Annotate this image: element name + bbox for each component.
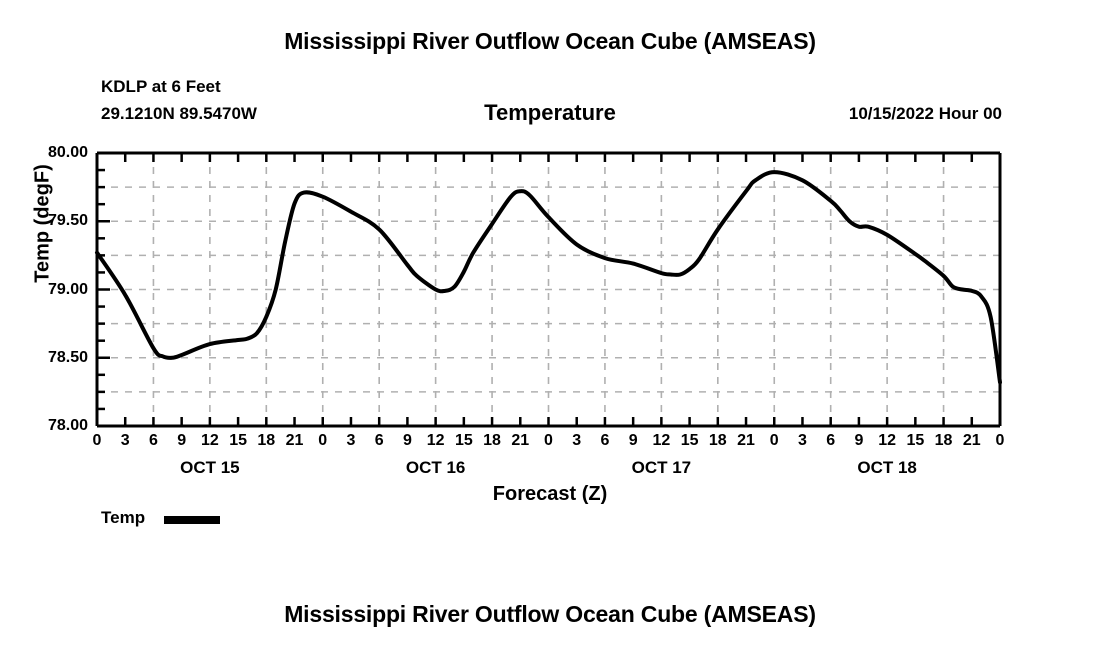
y-tick-label: 80.00 bbox=[20, 144, 88, 162]
y-tick-label: 78.50 bbox=[20, 349, 88, 367]
chart-page: Mississippi River Outflow Ocean Cube (AM… bbox=[0, 0, 1100, 650]
legend-label: Temp bbox=[101, 508, 145, 528]
x-axis-day-label: OCT 18 bbox=[817, 458, 957, 478]
page-title-bottom: Mississippi River Outflow Ocean Cube (AM… bbox=[0, 601, 1100, 628]
x-axis-day-label: OCT 17 bbox=[591, 458, 731, 478]
chart-plot bbox=[0, 0, 1100, 650]
x-axis-day-label: OCT 16 bbox=[366, 458, 506, 478]
y-tick-label: 78.00 bbox=[20, 417, 88, 435]
x-tick-label: 0 bbox=[983, 432, 1017, 450]
y-tick-label: 79.00 bbox=[20, 281, 88, 299]
y-tick-label: 79.50 bbox=[20, 212, 88, 230]
x-axis-day-label: OCT 15 bbox=[140, 458, 280, 478]
grid-lines bbox=[97, 153, 1000, 426]
legend-line-swatch bbox=[164, 516, 220, 524]
